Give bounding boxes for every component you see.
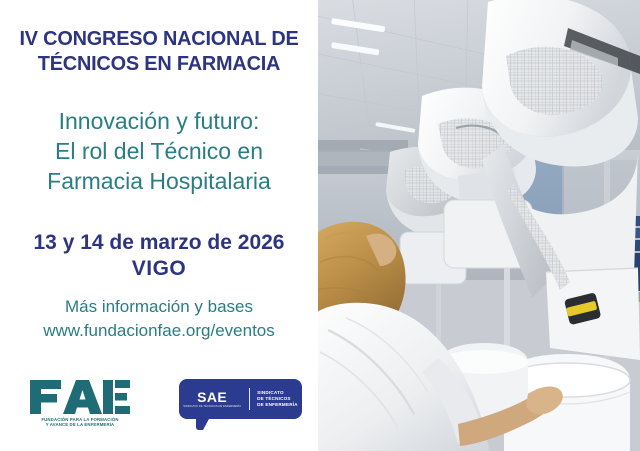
sae-wordmark-subtext: SINDICATO DE TÉCNICOS DE ENFERMERÍA: [183, 405, 241, 409]
sae-wordmark: SAE: [183, 390, 241, 405]
poster-subtitle: Innovación y futuro: El rol del Técnico …: [0, 106, 318, 196]
fae-tagline-line-2: Y AVANCE DE LA ENFERMERÍA: [28, 422, 132, 427]
event-city: VIGO: [0, 256, 318, 282]
subtitle-line-1: Innovación y futuro:: [0, 106, 318, 136]
event-date-location: 13 y 14 de marzo de 2026 VIGO: [0, 230, 318, 282]
title-line-1: IV CONGRESO NACIONAL DE: [5, 26, 313, 51]
fae-logo-icon: [28, 378, 132, 416]
fae-tagline: FUNDACIÓN PARA LA FORMACIÓN Y AVANCE DE …: [28, 417, 132, 428]
sae-tagline-line-3: DE ENFERMERÍA: [257, 402, 298, 408]
sae-logo-content: SAE SINDICATO DE TÉCNICOS DE ENFERMERÍA …: [179, 379, 302, 419]
sae-tagline: SINDICATO DE TÉCNICOS DE ENFERMERÍA: [257, 390, 298, 409]
pharmacy-photo-illustration: [318, 0, 640, 451]
congress-poster: IV CONGRESO NACIONAL DE TÉCNICOS EN FARM…: [0, 0, 640, 451]
sae-divider: [249, 388, 250, 410]
subtitle-line-2: El rol del Técnico en: [0, 136, 318, 166]
subtitle-line-3: Farmacia Hospitalaria: [0, 166, 318, 196]
sae-logo[interactable]: SAE SINDICATO DE TÉCNICOS DE ENFERMERÍA …: [179, 379, 302, 435]
more-info-label: Más información y bases: [0, 295, 318, 319]
event-url[interactable]: www.fundacionfae.org/eventos: [0, 319, 318, 343]
logo-row: FUNDACIÓN PARA LA FORMACIÓN Y AVANCE DE …: [0, 372, 318, 444]
text-panel: IV CONGRESO NACIONAL DE TÉCNICOS EN FARM…: [0, 0, 318, 451]
fae-logo[interactable]: FUNDACIÓN PARA LA FORMACIÓN Y AVANCE DE …: [28, 378, 132, 436]
event-date: 13 y 14 de marzo de 2026: [0, 230, 318, 256]
sae-wordmark-wrap: SAE SINDICATO DE TÉCNICOS DE ENFERMERÍA: [183, 390, 241, 409]
title-line-2: TÉCNICOS EN FARMACIA: [5, 51, 313, 76]
more-info: Más información y bases www.fundacionfae…: [0, 295, 318, 343]
poster-title: IV CONGRESO NACIONAL DE TÉCNICOS EN FARM…: [0, 26, 318, 76]
pharmacy-photo: [318, 0, 640, 451]
